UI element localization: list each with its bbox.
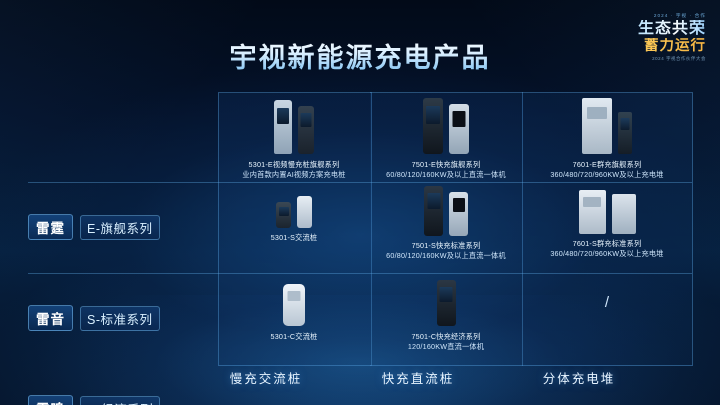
stack-cabinet [582,98,612,154]
product-image-5301e [274,96,314,154]
cell-r2c1[interactable]: 5301-S交流桩 [218,188,370,243]
cabinet-panel [587,107,607,119]
cell-caption-r1c1: 5301-E视频慢充桩旗舰系列 业内首款内置AI视频方案充电桩 [242,160,345,180]
dc-charger-panel [453,198,465,212]
row-name-leiting: 雷霆 [28,214,73,240]
ac-charger-light [297,196,312,228]
charger-body [274,100,292,154]
row-label-flagship: 雷霆 E-旗舰系列 [28,214,204,240]
dc-charger-light [449,192,468,236]
footer-label-dc: 快充直流桩 [342,368,494,387]
dc-charger-screen [427,193,440,209]
cell-caption-r3c1: 5301-C交流桩 [271,332,318,342]
product-image-7501e [423,96,469,154]
cell-caption-r2c3: 7601-S群充标准系列 360/480/720/960KW及以上充电堆 [550,239,663,259]
charger-screen-b [453,111,466,127]
product-image-7501c [437,278,456,326]
dc-charger-c-screen [440,287,453,302]
page-title: 宇视新能源充电产品 [0,36,720,75]
row-series-s: S-标准系列 [80,306,160,331]
ac-charger-dark [276,202,291,228]
ac-charger-c-panel [288,291,301,301]
cell-caption-r3c2: 7501-C快充经济系列 120/160KW直流一体机 [408,332,484,352]
cell-r2c3[interactable]: 7601-S群充标准系列 360/480/720/960KW及以上充电堆 [522,188,692,259]
cell-caption-r2c1: 5301-S交流桩 [271,233,318,243]
product-image-7601e [582,96,632,154]
cell-r1c1[interactable]: 5301-E视频慢充桩旗舰系列 业内首款内置AI视频方案充电桩 [218,96,370,180]
cell-caption-r1c3: 7601-E群充旗舰系列 360/480/720/960KW及以上充电堆 [550,160,663,180]
product-image-5301c [283,282,305,326]
dc-charger-dark [424,186,443,236]
charger-body-a [423,98,443,154]
row-name-leiming: 雷鸣 [28,395,73,405]
cell-placeholder-slash: / [605,294,609,311]
charger-screen-dark [301,113,312,127]
row-series-e: E-旗舰系列 [80,215,160,240]
ac-charger-screen [279,207,289,216]
dc-charger-c [437,280,456,326]
cell-caption-r1c2: 7501-E快充旗舰系列 60/80/120/160KW及以上直流一体机 [386,160,506,180]
row-series-c: C-经济系列 [80,396,160,405]
charger-screen [277,108,289,124]
cell-r3c1[interactable]: 5301-C交流桩 [218,282,370,342]
logo-top-text: 2024 · 宇视 · 合作 [534,12,706,19]
ac-charger-c [283,284,305,326]
product-matrix: 雷霆 E-旗舰系列 雷音 S-标准系列 雷鸣 C-经济系列 5301-E视频慢充… [28,92,692,364]
row-name-leiyin: 雷音 [28,305,73,331]
terminal-screen [621,118,630,130]
charger-screen-a [426,106,440,124]
cell-r3c3: / [522,294,692,311]
stack-cabinet-s2 [612,194,636,234]
stack-cabinet-s [579,190,606,234]
charger-body-dark [298,106,314,154]
stack-terminal [618,112,632,154]
cell-r1c2[interactable]: 7501-E快充旗舰系列 60/80/120/160KW及以上直流一体机 [370,96,522,180]
row-divider-1 [28,182,692,183]
row-label-standard: 雷音 S-标准系列 [28,305,204,331]
cell-caption-r2c2: 7501-S快充标准系列 60/80/120/160KW及以上直流一体机 [386,241,506,261]
cell-r2c2[interactable]: 7501-S快充标准系列 60/80/120/160KW及以上直流一体机 [370,184,522,261]
cabinet-panel-s [583,197,601,207]
row-divider-2 [28,273,692,274]
product-image-7501s [424,184,468,236]
cell-r3c2[interactable]: 7501-C快充经济系列 120/160KW直流一体机 [370,278,522,352]
footer-label-ac: 慢充交流桩 [190,368,342,387]
cell-r1c3[interactable]: 7601-E群充旗舰系列 360/480/720/960KW及以上充电堆 [522,96,692,180]
row-label-economy: 雷鸣 C-经济系列 [28,395,204,405]
footer-label-stack: 分体充电堆 [494,368,664,387]
charger-body-b [449,104,469,154]
product-image-7601s [579,188,636,234]
slide-canvas: 2024 · 宇视 · 合作 生态共荣 蓄力运行 2024 宇视合作伙伴大会 宇… [0,0,720,405]
product-image-5301s [276,188,312,228]
